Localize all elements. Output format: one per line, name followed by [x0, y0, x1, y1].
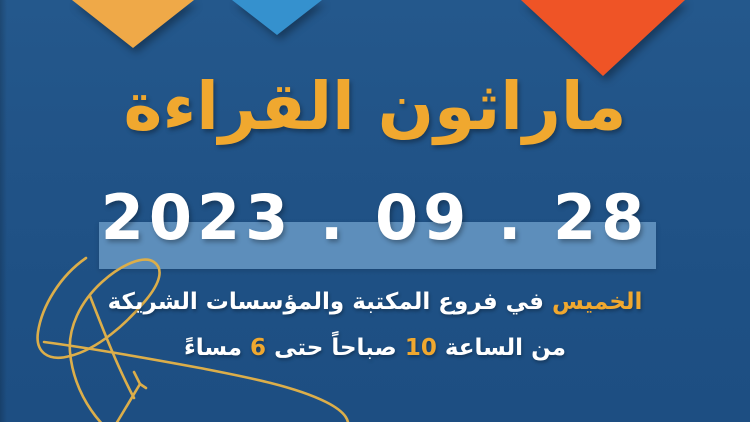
subtitle-location-text: في فروع المكتبة والمؤسسات الشريكة: [108, 289, 544, 315]
subtitle-time-suffix: مساءً: [184, 335, 242, 361]
subtitle-line-1: الخميس في فروع المكتبة والمؤسسات الشريكة: [0, 288, 750, 317]
subtitle-end-time: 6: [250, 335, 266, 361]
subtitle-line-2: من الساعة 10 صباحاً حتى 6 مساءً: [0, 334, 750, 363]
event-date: 2023 . 09 . 28: [0, 185, 750, 250]
subtitle-day-highlight: الخميس: [552, 289, 642, 315]
poster-content: ماراثون القراءة 2023 . 09 . 28 الخميس في…: [0, 0, 750, 422]
poster-canvas: ماراثون القراءة 2023 . 09 . 28 الخميس في…: [0, 0, 750, 422]
page-title: ماراثون القراءة: [0, 74, 750, 140]
subtitle-start-time: 10: [405, 335, 437, 361]
subtitle-time-middle: صباحاً حتى: [274, 335, 397, 361]
subtitle-time-prefix: من الساعة: [445, 335, 566, 361]
